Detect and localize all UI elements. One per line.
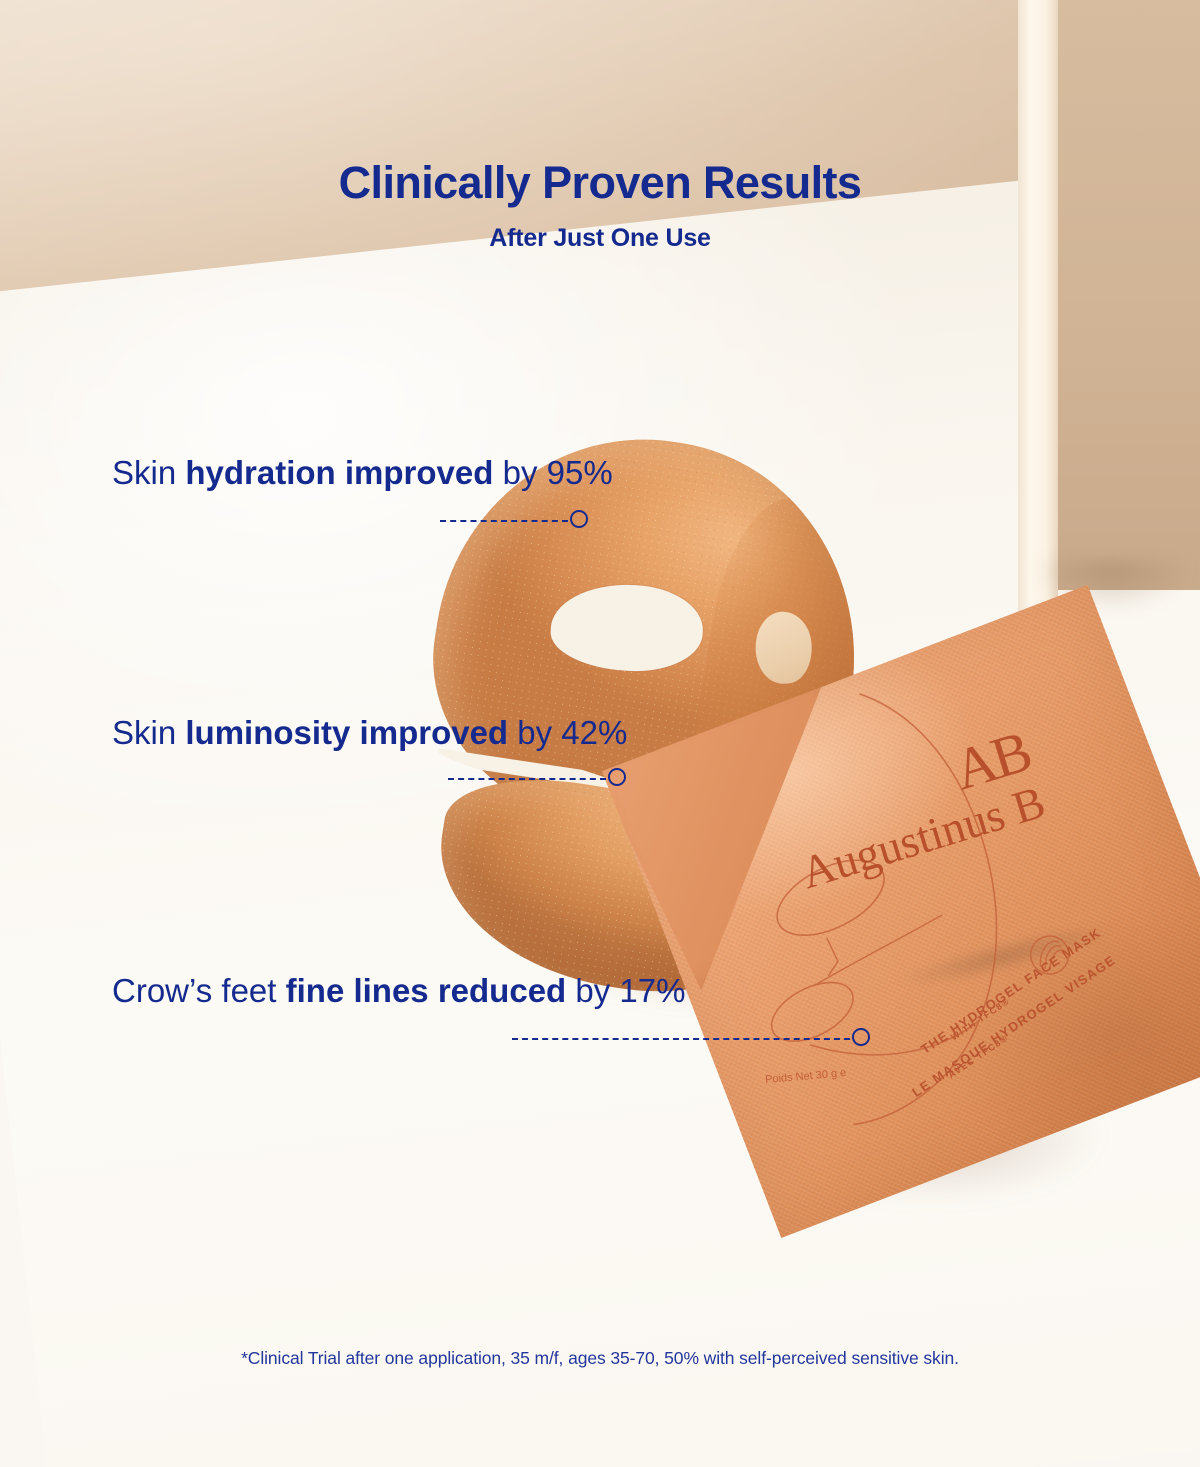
stat-crows-feet-lead: Crow’s feet	[112, 972, 286, 1009]
stat-hydration: Skin hydration improved by 95%	[112, 452, 613, 494]
footnote-disclaimer: *Clinical Trial after one application, 3…	[0, 1348, 1200, 1369]
backdrop-block-edge	[1018, 0, 1058, 636]
callout-leader-crows-feet	[512, 1028, 870, 1050]
stat-luminosity-lead: Skin	[112, 714, 185, 751]
leader-dash-line	[448, 778, 606, 780]
backdrop-block	[1056, 0, 1200, 590]
leader-dash-line	[440, 520, 568, 522]
stat-luminosity: Skin luminosity improved by 42%	[112, 712, 627, 754]
stat-hydration-tail: by 95%	[493, 454, 612, 491]
stat-crows-feet: Crow’s feet fine lines reduced by 17%	[112, 970, 685, 1012]
callout-leader-hydration	[440, 510, 588, 532]
callout-dot-icon	[852, 1028, 870, 1046]
callout-dot-icon	[570, 510, 588, 528]
stat-crows-feet-emphasis: fine lines reduced	[286, 972, 567, 1009]
callout-dot-icon	[608, 768, 626, 786]
callout-leader-luminosity	[448, 768, 626, 790]
stat-luminosity-emphasis: luminosity improved	[185, 714, 508, 751]
leader-dash-line	[512, 1038, 850, 1040]
stat-luminosity-tail: by 42%	[508, 714, 627, 751]
page-subtitle: After Just One Use	[0, 224, 1200, 253]
stat-hydration-lead: Skin	[112, 454, 185, 491]
product-results-graphic: AB Augustinus B THE HYDROGEL FACE MASK W…	[0, 0, 1200, 1467]
stat-hydration-emphasis: hydration improved	[185, 454, 493, 491]
page-title: Clinically Proven Results	[0, 157, 1200, 209]
stat-crows-feet-tail: by 17%	[566, 972, 685, 1009]
